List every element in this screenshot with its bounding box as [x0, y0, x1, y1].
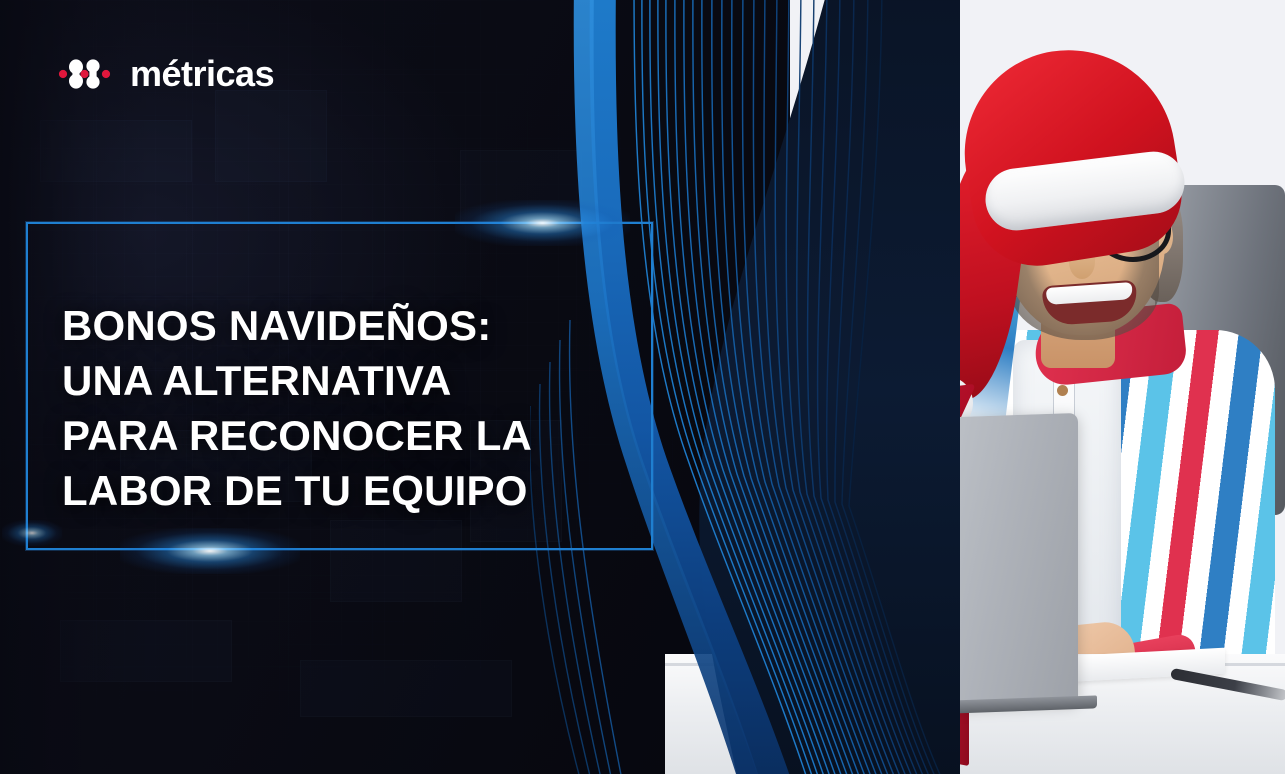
brand-logo[interactable]: métricas — [58, 54, 274, 94]
page-title: BONOS NAVIDEÑOS: UNA ALTERNATIVA PARA RE… — [62, 298, 642, 518]
laptop-lid — [900, 413, 1078, 709]
headline-line-3: PARA RECONOCER LA — [62, 408, 642, 463]
metricas-dots-logo-icon — [58, 54, 116, 94]
teeth — [1046, 282, 1133, 305]
card-chip-icon — [884, 284, 906, 302]
headline-line-1: BONOS NAVIDEÑOS: — [62, 298, 642, 353]
hero-photo: Credit card BANK 0000 0000 0000 0000 NAM… — [665, 0, 1285, 774]
shirt-button-top — [1057, 385, 1068, 396]
headline-line-2: UNA ALTERNATIVA — [62, 353, 642, 408]
headline-line-4: LABOR DE TU EQUIPO — [62, 463, 642, 518]
laptop — [900, 412, 1090, 712]
brand-name: métricas — [130, 56, 274, 92]
card-brand-label: Credit card — [878, 261, 929, 278]
promotional-banner: Credit card BANK 0000 0000 0000 0000 NAM… — [0, 0, 1285, 774]
